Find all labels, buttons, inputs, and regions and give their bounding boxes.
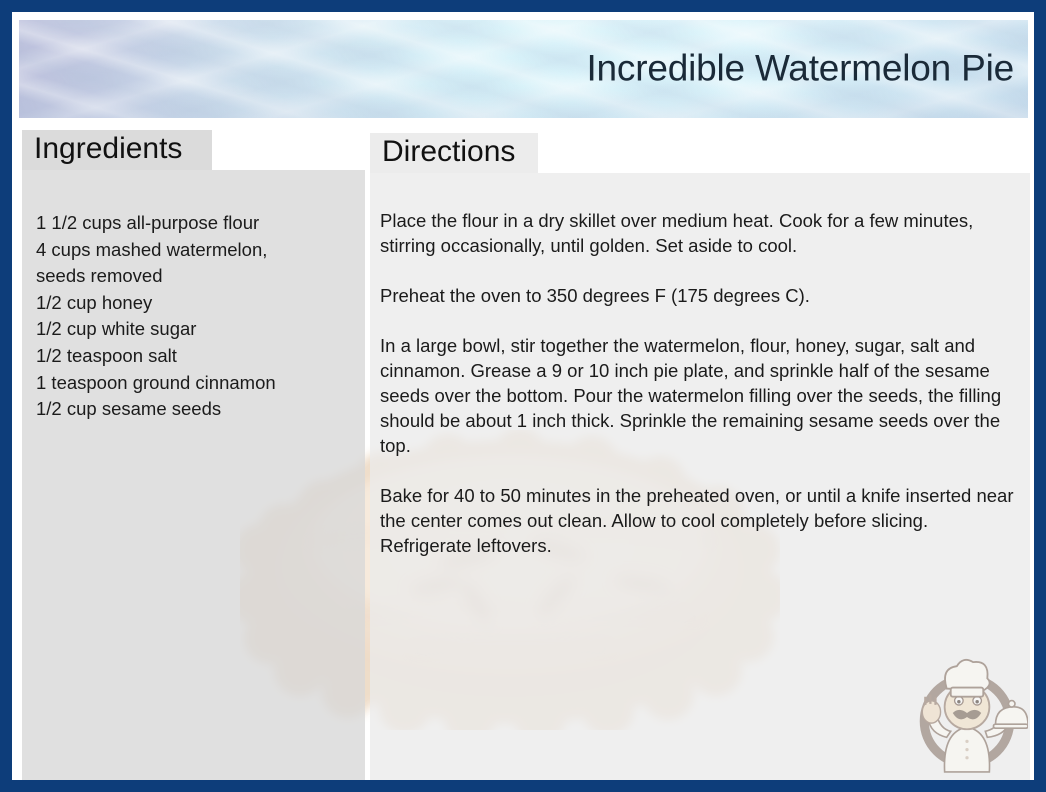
direction-step: Bake for 40 to 50 minutes in the preheat…	[380, 483, 1016, 558]
list-item: 1/2 cup white sugar	[36, 316, 365, 343]
list-item: 1/2 cup sesame seeds	[36, 396, 365, 423]
list-item: 1/2 teaspoon salt	[36, 343, 365, 370]
direction-step: Place the flour in a dry skillet over me…	[380, 208, 1016, 258]
directions-text: Place the flour in a dry skillet over me…	[370, 173, 1030, 558]
recipe-slide: Incredible Watermelon Pie	[0, 0, 1046, 792]
direction-step: Preheat the oven to 350 degrees F (175 d…	[380, 283, 1016, 308]
ingredients-panel: Ingredients 1 1/2 cups all-purpose flour…	[22, 130, 365, 780]
directions-panel-body: Place the flour in a dry skillet over me…	[370, 173, 1030, 780]
header-banner: Incredible Watermelon Pie	[19, 20, 1028, 118]
list-item: 1 1/2 cups all-purpose flour	[36, 210, 365, 237]
directions-tab-label: Directions	[382, 137, 515, 167]
directions-tab: Directions	[370, 133, 538, 173]
list-item: 1/2 cup honey	[36, 290, 365, 317]
page-title: Incredible Watermelon Pie	[586, 49, 1014, 90]
ingredients-tab-label: Ingredients	[34, 134, 182, 164]
directions-panel: Directions Place the flour in a dry skil…	[370, 133, 1030, 780]
ingredients-panel-body: 1 1/2 cups all-purpose flour 4 cups mash…	[22, 170, 365, 780]
ingredients-tab: Ingredients	[22, 130, 212, 170]
slide-canvas: Incredible Watermelon Pie	[12, 12, 1034, 780]
list-item: 4 cups mashed watermelon, seeds removed	[36, 237, 365, 290]
list-item: 1 teaspoon ground cinnamon	[36, 370, 365, 397]
direction-step: In a large bowl, stir together the water…	[380, 333, 1016, 458]
ingredient-list: 1 1/2 cups all-purpose flour 4 cups mash…	[22, 170, 365, 423]
